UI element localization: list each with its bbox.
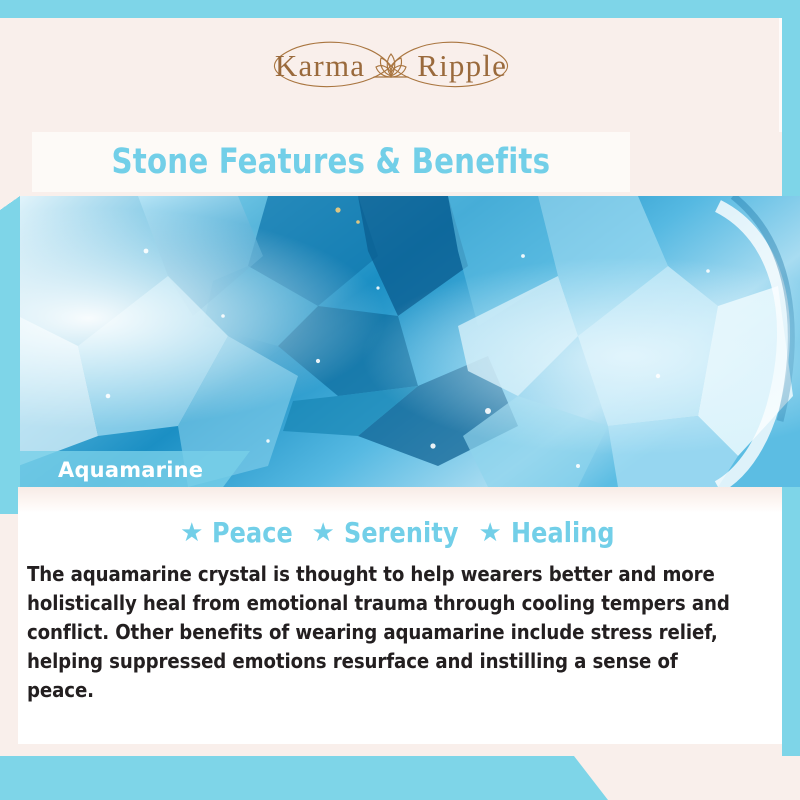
star-icon: ★	[312, 519, 335, 545]
bottom-accent-bar	[0, 756, 620, 800]
brand-wordmark: Karma Ripple	[275, 48, 507, 84]
star-icon: ★	[478, 519, 501, 545]
keyword-row: ★ Peace ★ Serenity ★ Healing	[18, 512, 782, 552]
keyword-item: ★ Serenity	[298, 516, 465, 549]
keyword-label: Serenity	[344, 516, 459, 549]
content-sheet-fade	[18, 487, 782, 513]
photo-left-accent-strip	[0, 196, 20, 514]
stone-photo	[18, 196, 800, 487]
page-title: Stone Features & Benefits	[112, 142, 551, 182]
infographic-card: Karma Ripple Stone Features & Benefits	[0, 0, 800, 800]
brand-header: Karma Ripple	[0, 0, 782, 132]
title-plate: Stone Features & Benefits	[32, 132, 630, 192]
title-band: Stone Features & Benefits	[0, 132, 782, 196]
stone-name-chip: Aquamarine	[20, 451, 250, 488]
keyword-label: Peace	[212, 516, 293, 549]
keyword-label: Healing	[511, 516, 615, 549]
star-icon: ★	[180, 519, 203, 545]
keyword-item: ★ Healing	[464, 516, 619, 549]
brand-word-right: Ripple	[417, 48, 507, 84]
stone-name-label: Aquamarine	[58, 458, 203, 482]
crystal-photo-art	[18, 196, 800, 487]
stone-description: The aquamarine crystal is thought to hel…	[27, 560, 742, 705]
brand-word-left: Karma	[275, 48, 365, 84]
keyword-item: ★ Peace	[180, 516, 297, 549]
brand-logo: Karma Ripple	[241, 32, 541, 100]
bottom-cream-strip	[0, 744, 782, 756]
